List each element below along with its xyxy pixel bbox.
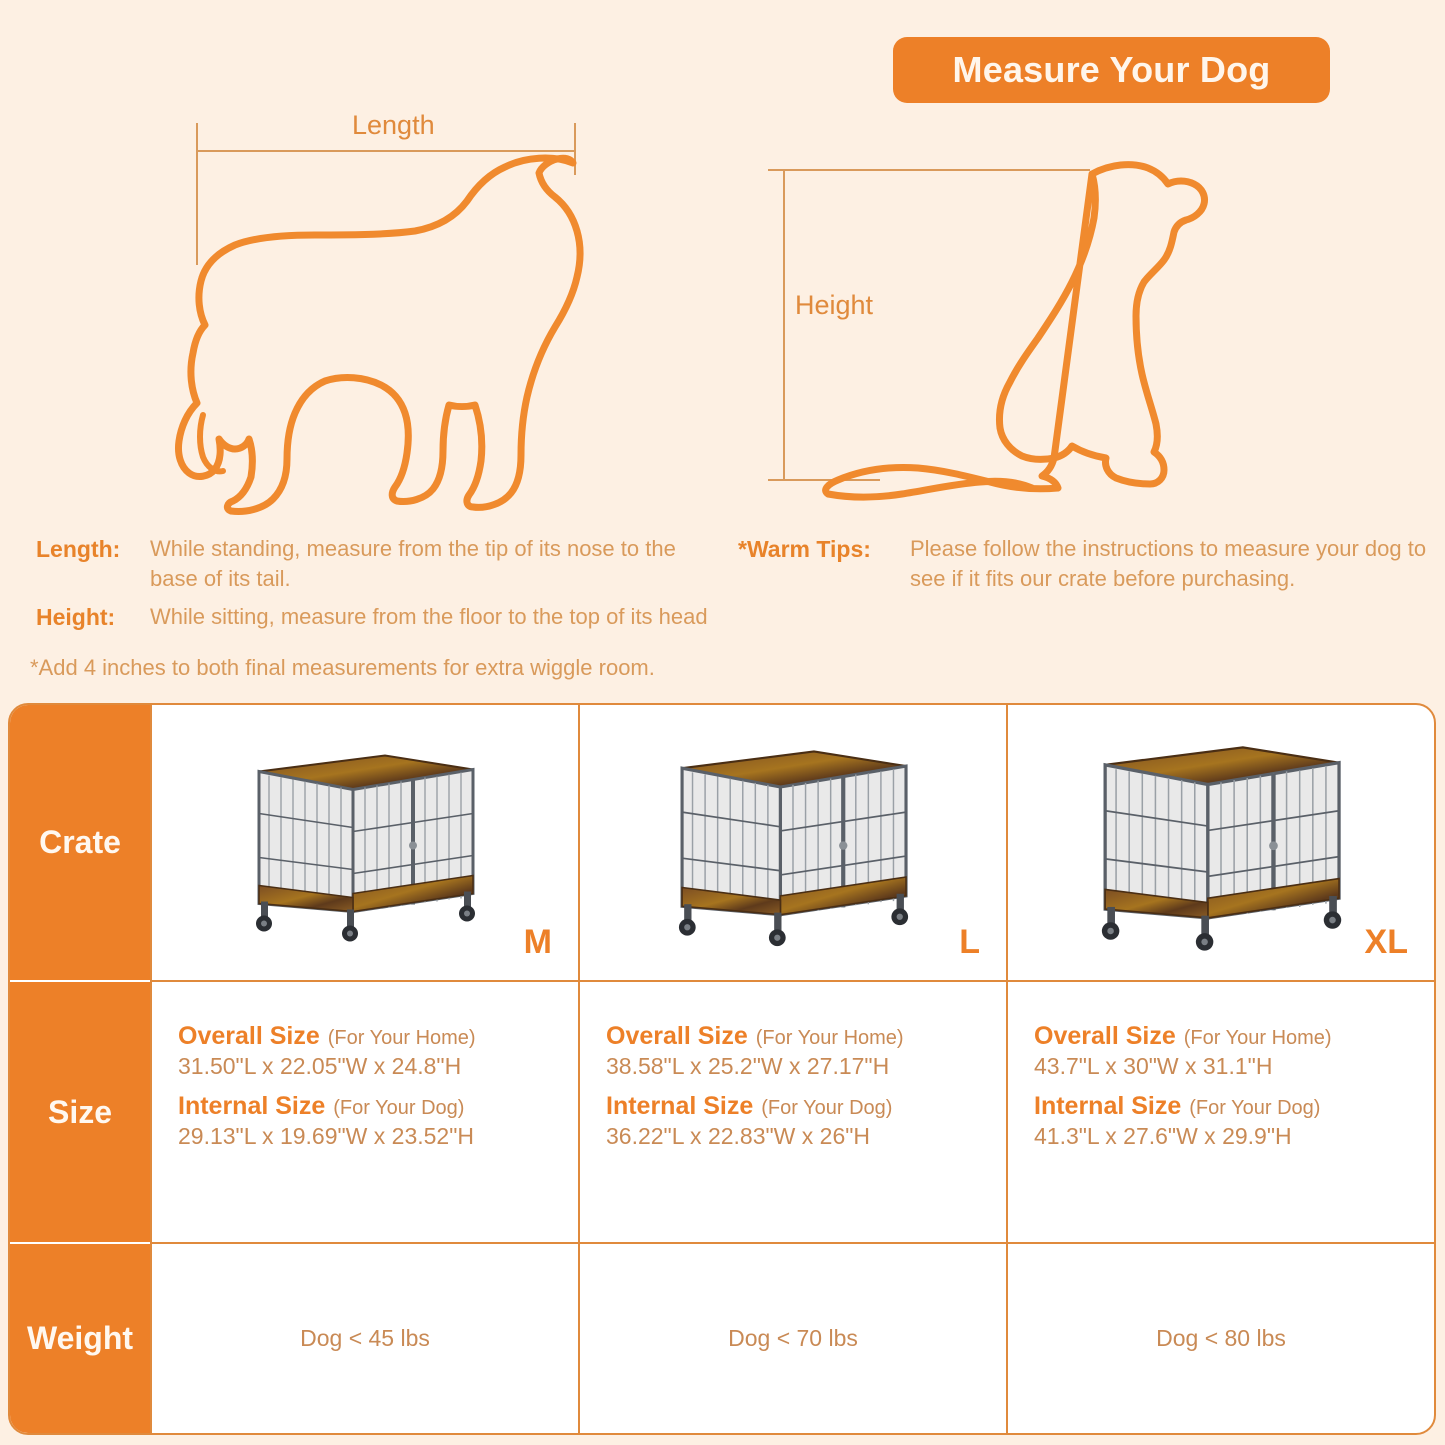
crate-cell-l: L (578, 705, 1006, 982)
weight-value-l: Dog < 70 lbs (728, 1325, 858, 1352)
overall-size-label-m: Overall Size(For Your Home) (178, 1022, 578, 1051)
overall-size-sub-l: (For Your Home) (748, 1027, 904, 1049)
row-header-size: Size (10, 982, 150, 1244)
overall-size-title-xl: Overall Size (1034, 1022, 1176, 1050)
dog-crate-furniture-icon (235, 735, 495, 950)
overall-size-title-m: Overall Size (178, 1022, 320, 1050)
height-dimension-label: Height (795, 290, 873, 321)
internal-size-value-l: 36.22"L x 22.83"W x 26"H (606, 1123, 1006, 1150)
overall-size-value-xl: 43.7"L x 30"W x 31.1"H (1034, 1053, 1434, 1080)
internal-size-sub-xl: (For Your Dog) (1181, 1097, 1320, 1119)
internal-size-label-xl: Internal Size(For Your Dog) (1034, 1092, 1434, 1121)
size-specification-table: Crate (8, 703, 1436, 1435)
overall-size-label-xl: Overall Size(For Your Home) (1034, 1022, 1434, 1051)
internal-size-sub-l: (For Your Dog) (753, 1097, 892, 1119)
crate-cell-m: M (150, 705, 578, 982)
height-illustration (760, 150, 1230, 510)
overall-size-value-l: 38.58"L x 25.2"W x 27.17"H (606, 1053, 1006, 1080)
size-cell-m: Overall Size(For Your Home) 31.50"L x 22… (150, 982, 578, 1244)
warm-tips-row: *Warm Tips: Please follow the instructio… (738, 534, 1438, 594)
weight-value-m: Dog < 45 lbs (300, 1325, 430, 1352)
overall-size-value-m: 31.50"L x 22.05"W x 24.8"H (178, 1053, 578, 1080)
overall-size-sub-xl: (For Your Home) (1176, 1027, 1332, 1049)
row-header-weight: Weight (10, 1244, 150, 1433)
dog-crate-furniture-icon (1061, 725, 1381, 960)
size-cell-xl: Overall Size(For Your Home) 43.7"L x 30"… (1006, 982, 1434, 1244)
overall-size-label-l: Overall Size(For Your Home) (606, 1022, 1006, 1051)
internal-size-title-xl: Internal Size (1034, 1092, 1181, 1120)
height-instruction-key: Height: (36, 602, 138, 632)
overall-size-sub-m: (For Your Home) (320, 1027, 476, 1049)
size-cell-l: Overall Size(For Your Home) 38.58"L x 25… (578, 982, 1006, 1244)
row-header-crate: Crate (10, 705, 150, 982)
wiggle-room-note: *Add 4 inches to both final measurements… (30, 655, 655, 681)
length-instruction-key: Length: (36, 534, 138, 594)
length-illustration (175, 105, 605, 515)
weight-cell-l: Dog < 70 lbs (578, 1244, 1006, 1433)
height-instruction-row: Height: While sitting, measure from the … (36, 602, 716, 632)
weight-cell-m: Dog < 45 lbs (150, 1244, 578, 1433)
internal-size-label-m: Internal Size(For Your Dog) (178, 1092, 578, 1121)
dog-standing-outline-icon (175, 105, 605, 515)
dog-crate-furniture-icon (648, 730, 938, 955)
length-dimension-label: Length (352, 110, 435, 141)
measure-instructions: Length: While standing, measure from the… (36, 534, 716, 640)
measure-your-dog-badge: Measure Your Dog (893, 37, 1330, 103)
weight-value-xl: Dog < 80 lbs (1156, 1325, 1286, 1352)
internal-size-value-m: 29.13"L x 19.69"W x 23.52"H (178, 1123, 578, 1150)
size-tag-l: L (959, 923, 980, 962)
badge-label: Measure Your Dog (953, 49, 1271, 91)
warm-tips-text: Please follow the instructions to measur… (898, 534, 1438, 594)
warm-tips: *Warm Tips: Please follow the instructio… (738, 534, 1438, 602)
size-tag-m: M (524, 923, 552, 962)
internal-size-sub-m: (For Your Dog) (325, 1097, 464, 1119)
length-instruction-text: While standing, measure from the tip of … (138, 534, 716, 594)
internal-size-label-l: Internal Size(For Your Dog) (606, 1092, 1006, 1121)
warm-tips-key: *Warm Tips: (738, 534, 898, 594)
crate-cell-xl: XL (1006, 705, 1434, 982)
length-instruction-row: Length: While standing, measure from the… (36, 534, 716, 594)
internal-size-title-l: Internal Size (606, 1092, 753, 1120)
internal-size-title-m: Internal Size (178, 1092, 325, 1120)
weight-cell-xl: Dog < 80 lbs (1006, 1244, 1434, 1433)
dog-sitting-outline-icon (760, 150, 1230, 510)
height-instruction-text: While sitting, measure from the floor to… (138, 602, 716, 632)
internal-size-value-xl: 41.3"L x 27.6"W x 29.9"H (1034, 1123, 1434, 1150)
overall-size-title-l: Overall Size (606, 1022, 748, 1050)
size-tag-xl: XL (1365, 923, 1408, 962)
